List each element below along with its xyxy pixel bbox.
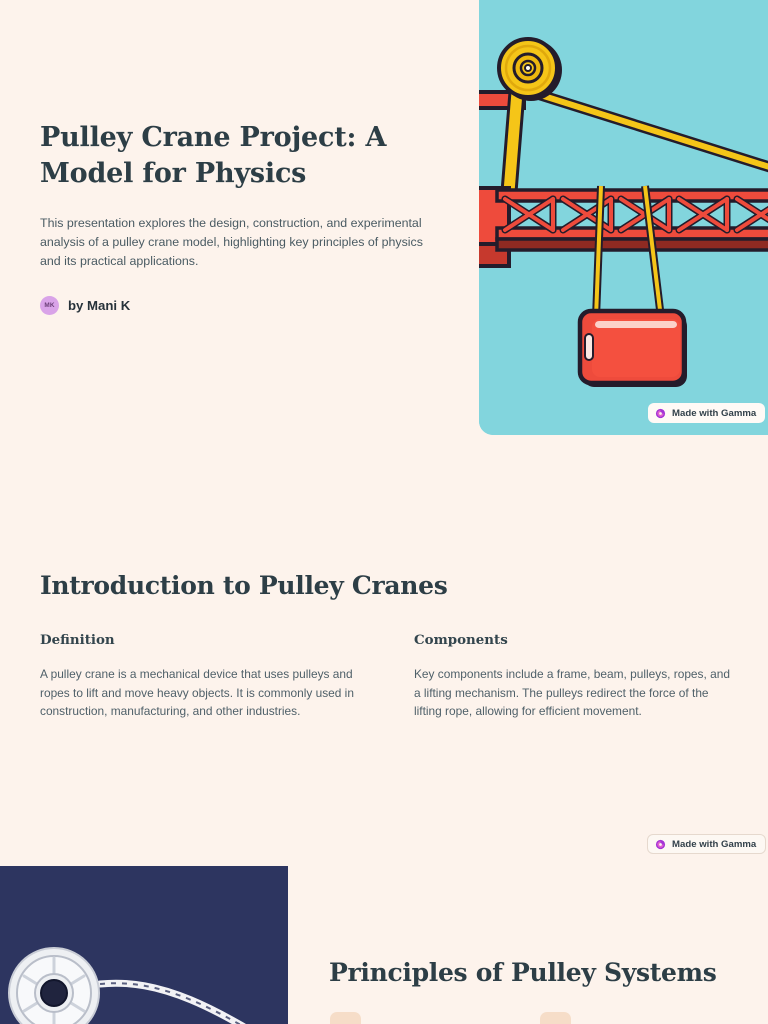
byline: MK by Mani K (40, 296, 450, 315)
intro-columns: Definition A pulley crane is a mechanica… (40, 632, 730, 721)
made-with-gamma-badge[interactable]: Made with Gamma (647, 834, 766, 854)
column-heading: Components (414, 632, 730, 648)
slide-principles: Principles of Pulley Systems (0, 866, 768, 1024)
crane-illustration-icon (479, 0, 768, 435)
section-title-introduction: Introduction to Pulley Cranes (40, 571, 448, 600)
slide-hero: Pulley Crane Project: A Model for Physic… (0, 0, 768, 546)
hero-subtitle: This presentation explores the design, c… (40, 214, 440, 271)
hero-text-block: Pulley Crane Project: A Model for Physic… (40, 120, 450, 315)
made-with-gamma-badge[interactable]: Made with Gamma (648, 403, 765, 423)
gamma-logo-icon (655, 408, 666, 419)
section-title-principles: Principles of Pulley Systems (329, 958, 717, 987)
principles-image (0, 866, 288, 1024)
column-body: A pulley crane is a mechanical device th… (40, 665, 356, 721)
gamma-badge-label: Made with Gamma (672, 408, 756, 419)
principle-icon-tile (540, 1012, 571, 1024)
gamma-logo-icon (655, 839, 666, 850)
hero-image (479, 0, 768, 435)
column-body: Key components include a frame, beam, pu… (414, 665, 730, 721)
principle-icon-tile (330, 1012, 361, 1024)
author-name: by Mani K (68, 298, 130, 313)
gamma-badge-label: Made with Gamma (672, 839, 756, 850)
avatar: MK (40, 296, 59, 315)
page-title: Pulley Crane Project: A Model for Physic… (40, 120, 450, 191)
pulley-wheel-illustration-icon (0, 866, 288, 1024)
slide-introduction: Introduction to Pulley Cranes Definition… (0, 546, 768, 866)
column-definition: Definition A pulley crane is a mechanica… (40, 632, 356, 721)
column-heading: Definition (40, 632, 356, 648)
presentation-page: Pulley Crane Project: A Model for Physic… (0, 0, 768, 1024)
column-components: Components Key components include a fram… (414, 632, 730, 721)
